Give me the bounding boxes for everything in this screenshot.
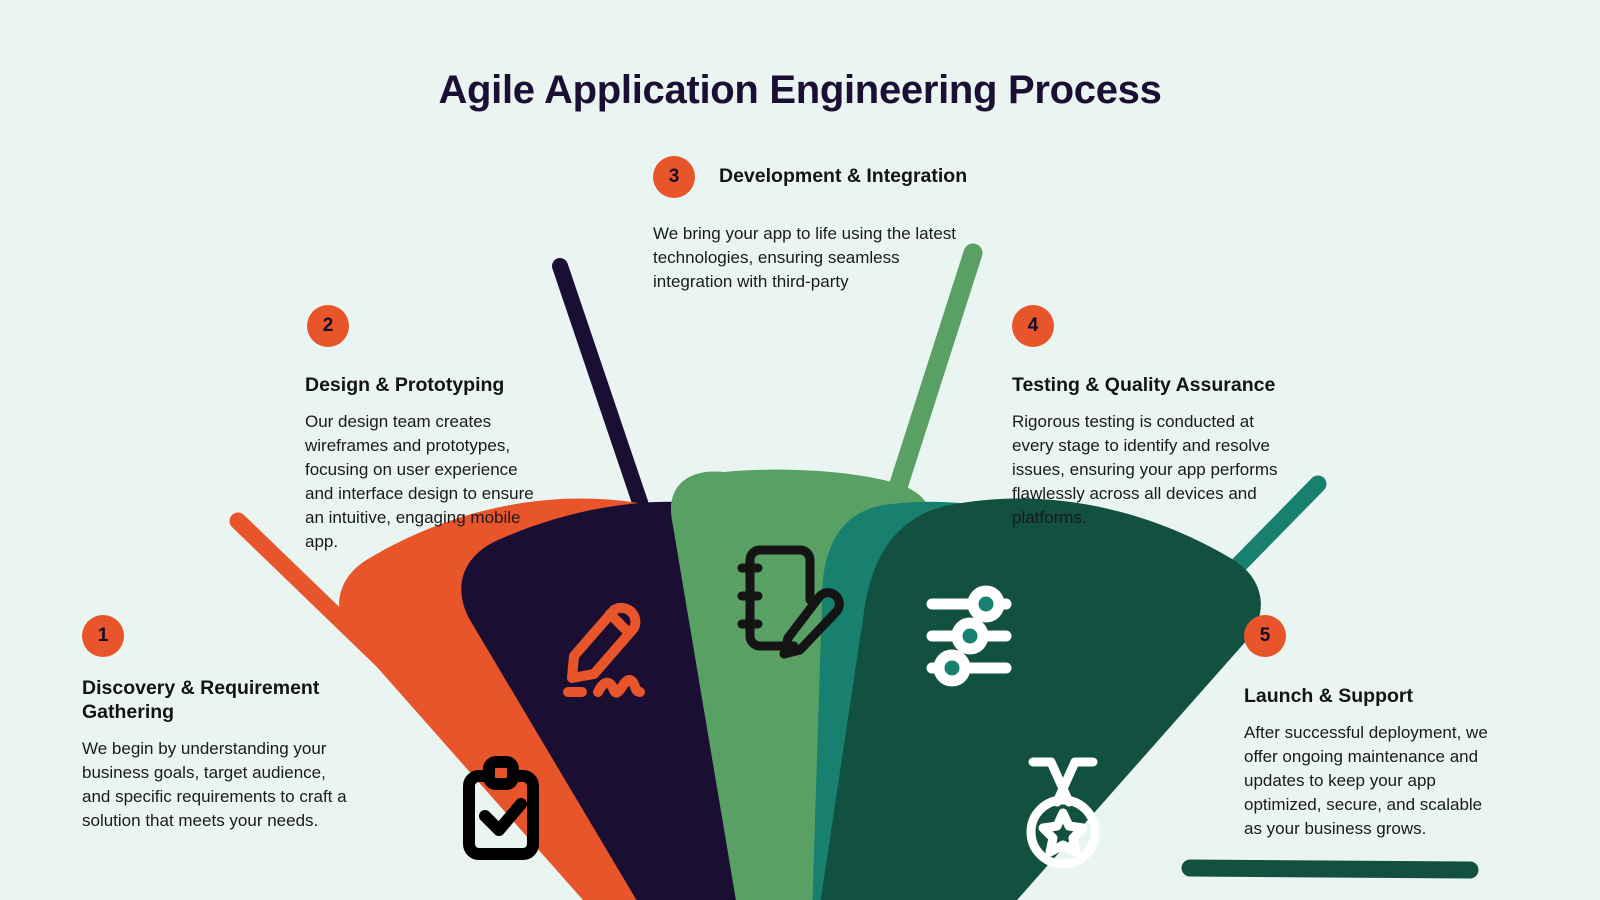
step-description-1: We begin by understanding your business …: [82, 737, 350, 834]
step-description-3: We bring your app to life using the late…: [653, 222, 983, 294]
step-badge-4[interactable]: 4: [1012, 305, 1054, 347]
step-block-2: 2 Design & Prototyping Our design team c…: [305, 305, 550, 555]
step-description-2: Our design team creates wireframes and p…: [305, 410, 550, 555]
step-title-2: Design & Prototyping: [305, 374, 550, 398]
step-block-3: 3 Development & Integration We bring you…: [653, 156, 983, 294]
sliders-icon: [932, 591, 1006, 681]
step-badge-1[interactable]: 1: [82, 615, 124, 657]
step-title-1: Discovery & Requirement Gathering: [82, 677, 350, 725]
step-badge-5[interactable]: 5: [1244, 615, 1286, 657]
step-description-5: After successful deployment, we offer on…: [1244, 721, 1494, 842]
step-badge-3[interactable]: 3: [653, 156, 695, 198]
leader-line-5: [1190, 868, 1470, 870]
step-block-4: 4 Testing & Quality Assurance Rigorous t…: [1012, 305, 1284, 530]
step-title-3: Development & Integration: [719, 165, 967, 189]
step-title-4: Testing & Quality Assurance: [1012, 374, 1284, 398]
step-description-4: Rigorous testing is conducted at every s…: [1012, 410, 1284, 531]
clipboard-check-icon: [469, 762, 533, 854]
step-title-5: Launch & Support: [1244, 685, 1494, 709]
step-badge-2[interactable]: 2: [307, 305, 349, 347]
infographic-canvas: Agile Application Engineering Process 1 …: [0, 0, 1600, 900]
step-block-5: 5 Launch & Support After successful depl…: [1244, 615, 1494, 841]
step-block-1: 1 Discovery & Requirement Gathering We b…: [82, 615, 350, 833]
page-title: Agile Application Engineering Process: [0, 68, 1600, 113]
